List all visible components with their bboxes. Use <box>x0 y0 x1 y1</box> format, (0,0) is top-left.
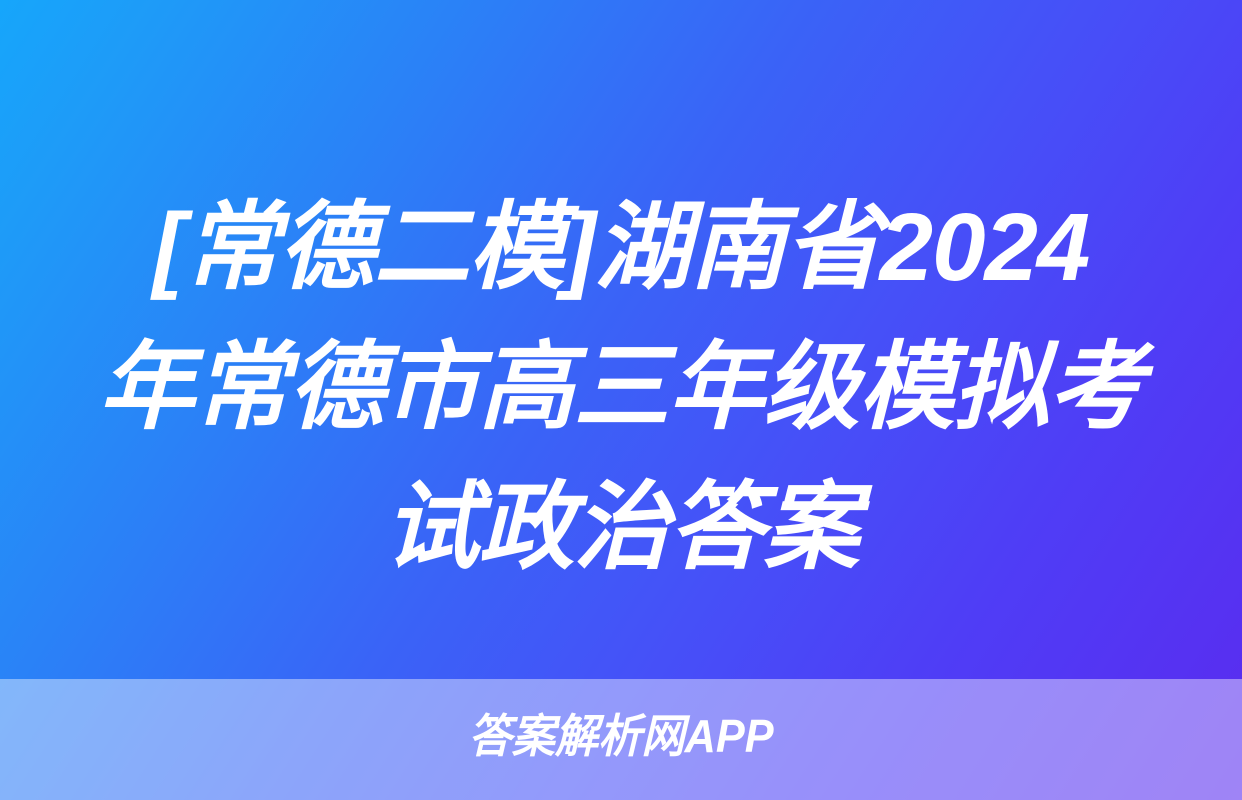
title-line-3: 试政治答案 <box>36 458 1206 598</box>
footer-band: 答案解析网APP <box>0 679 1242 800</box>
answer-card: [常德二模]湖南省2024 年常德市高三年级模拟考 试政治答案 答案解析网APP <box>0 0 1242 800</box>
title-line-2: 年常德市高三年级模拟考 <box>36 318 1206 458</box>
title-line-1: [常德二模]湖南省2024 <box>36 178 1206 318</box>
page-title: [常德二模]湖南省2024 年常德市高三年级模拟考 试政治答案 <box>0 178 1242 598</box>
watermark-brand: 答案解析网APP <box>37 713 1204 759</box>
